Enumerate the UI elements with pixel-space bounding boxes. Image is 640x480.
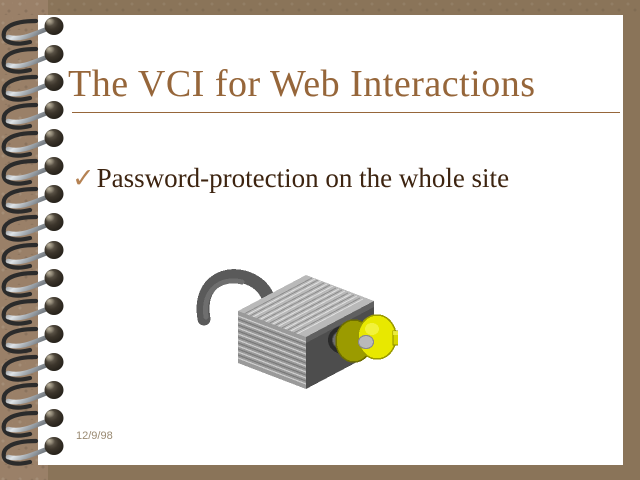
bullet-item-label: Password-protection on the whole site <box>97 163 509 193</box>
checkmark-bullet-icon: ✓ <box>72 164 95 194</box>
slide-date: 12/9/98 <box>76 430 113 443</box>
slide-title: The VCI for Web Interactions <box>68 62 618 106</box>
slide-canvas: The VCI for Web Interactions ✓ Password-… <box>0 0 640 480</box>
title-underline-rule <box>72 112 620 113</box>
bullet-item: ✓ Password-protection on the whole site <box>72 163 612 194</box>
notebook-cover-top-edge <box>48 0 640 15</box>
padlock-icon: Gray laminated padlock with a yellow key… <box>178 263 398 403</box>
padlock-and-key-image: Gray laminated padlock with a yellow key… <box>178 263 398 408</box>
